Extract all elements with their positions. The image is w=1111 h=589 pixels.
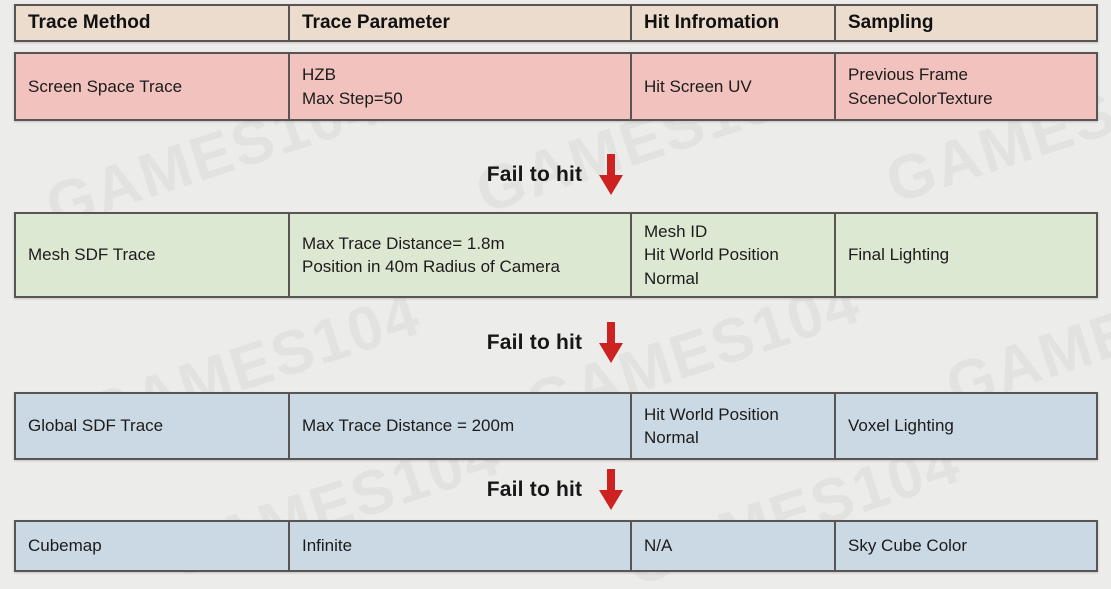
connector-fail-to-hit: Fail to hit xyxy=(0,150,1111,200)
cell-hit-information: Hit Screen UV xyxy=(630,54,834,119)
cell-text: Cubemap xyxy=(28,534,276,557)
down-arrow-icon xyxy=(598,322,624,364)
cell-text: Hit World Position xyxy=(644,243,822,266)
cell-text: Voxel Lighting xyxy=(848,414,1084,437)
down-arrow-icon xyxy=(598,154,624,196)
cell-hit-information: N/A xyxy=(630,522,834,570)
cell-trace-parameter: Max Trace Distance = 200m xyxy=(288,394,630,458)
cell-text: Max Trace Distance = 200m xyxy=(302,414,618,437)
connector-label: Fail to hit xyxy=(487,163,583,187)
cell-text: Hit Screen UV xyxy=(644,75,822,98)
connector-fail-to-hit: Fail to hit xyxy=(0,466,1111,514)
cell-text: Global SDF Trace xyxy=(28,414,276,437)
connector-label: Fail to hit xyxy=(487,478,583,502)
cell-sampling: Sky Cube Color xyxy=(834,522,1096,570)
cell-text: N/A xyxy=(644,534,822,557)
cell-text: Final Lighting xyxy=(848,243,1084,266)
cell-text: Position in 40m Radius of Camera xyxy=(302,255,618,278)
cell-hit-information: Hit World Position Normal xyxy=(630,394,834,458)
cell-text: Max Trace Distance= 1.8m xyxy=(302,232,618,255)
column-header-hit-information: Hit Infromation xyxy=(630,6,834,40)
table-row: Mesh SDF Trace Max Trace Distance= 1.8m … xyxy=(14,212,1098,298)
cell-text: Mesh SDF Trace xyxy=(28,243,276,266)
cell-trace-parameter: Infinite xyxy=(288,522,630,570)
cell-text: Normal xyxy=(644,426,822,449)
column-header-sampling: Sampling xyxy=(834,6,1096,40)
cell-sampling: Previous Frame SceneColorTexture xyxy=(834,54,1096,119)
cell-text: SceneColorTexture xyxy=(848,87,1084,110)
column-header-trace-parameter: Trace Parameter xyxy=(288,6,630,40)
cell-text: Max Step=50 xyxy=(302,87,618,110)
table-row: Cubemap Infinite N/A Sky Cube Color xyxy=(14,520,1098,572)
cell-text: Sky Cube Color xyxy=(848,534,1084,557)
cell-text: Normal xyxy=(644,267,822,290)
column-header-label: Trace Parameter xyxy=(302,10,618,36)
down-arrow-icon xyxy=(598,469,624,511)
column-header-label: Trace Method xyxy=(28,10,276,36)
column-header-label: Sampling xyxy=(848,10,1084,36)
connector-fail-to-hit: Fail to hit xyxy=(0,318,1111,368)
cell-trace-parameter: Max Trace Distance= 1.8m Position in 40m… xyxy=(288,214,630,296)
cell-trace-method: Global SDF Trace xyxy=(16,394,288,458)
cell-trace-method: Mesh SDF Trace xyxy=(16,214,288,296)
cell-trace-parameter: HZB Max Step=50 xyxy=(288,54,630,119)
cell-hit-information: Mesh ID Hit World Position Normal xyxy=(630,214,834,296)
cell-sampling: Voxel Lighting xyxy=(834,394,1096,458)
cell-sampling: Final Lighting xyxy=(834,214,1096,296)
cell-text: HZB xyxy=(302,63,618,86)
table-row: Screen Space Trace HZB Max Step=50 Hit S… xyxy=(14,52,1098,121)
cell-text: Hit World Position xyxy=(644,403,822,426)
table-header-row: Trace Method Trace Parameter Hit Infroma… xyxy=(14,4,1098,42)
cell-text: Mesh ID xyxy=(644,220,822,243)
cell-trace-method: Cubemap xyxy=(16,522,288,570)
cell-text: Screen Space Trace xyxy=(28,75,276,98)
cell-text: Previous Frame xyxy=(848,63,1084,86)
column-header-label: Hit Infromation xyxy=(644,10,822,36)
table-row: Global SDF Trace Max Trace Distance = 20… xyxy=(14,392,1098,460)
cell-trace-method: Screen Space Trace xyxy=(16,54,288,119)
trace-method-flow-table: Trace Method Trace Parameter Hit Infroma… xyxy=(0,0,1111,589)
column-header-trace-method: Trace Method xyxy=(16,6,288,40)
cell-text: Infinite xyxy=(302,534,618,557)
connector-label: Fail to hit xyxy=(487,331,583,355)
